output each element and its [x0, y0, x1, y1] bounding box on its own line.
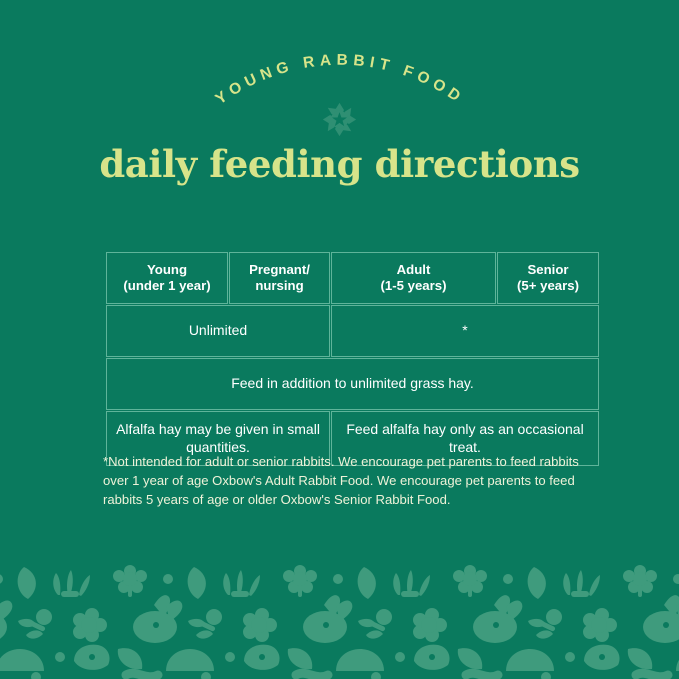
- eyebrow-text: YOUNG RABBIT FOOD: [212, 52, 467, 108]
- header-line2: (1-5 years): [381, 278, 447, 293]
- table-header-row: Young (under 1 year) Pregnant/ nursing A…: [106, 252, 599, 304]
- page-title: daily feeding directions: [0, 144, 679, 185]
- footnote-text: *Not intended for adult or senior rabbit…: [103, 452, 584, 510]
- rosette-star-icon: [321, 101, 358, 138]
- header-line1: Adult: [397, 262, 431, 277]
- header-line2: (under 1 year): [123, 278, 210, 293]
- table-header-young: Young (under 1 year): [106, 252, 228, 304]
- rabbit-leaf-flower-pattern: [0, 565, 679, 679]
- cell-unlimited: Unlimited: [106, 305, 330, 357]
- header-line1: Young: [147, 262, 187, 277]
- table-row: Unlimited *: [106, 305, 599, 357]
- header-line1: Pregnant/: [249, 262, 310, 277]
- table-header-adult: Adult (1-5 years): [331, 252, 496, 304]
- header-line2: (5+ years): [517, 278, 579, 293]
- feeding-directions-table: Young (under 1 year) Pregnant/ nursing A…: [105, 251, 600, 467]
- table-header-senior: Senior (5+ years): [497, 252, 599, 304]
- cell-grass-hay-note: Feed in addition to unlimited grass hay.: [106, 358, 599, 410]
- header-line1: Senior: [527, 262, 568, 277]
- table-header-pregnant: Pregnant/ nursing: [229, 252, 330, 304]
- table-row: Feed in addition to unlimited grass hay.: [106, 358, 599, 410]
- header-line2: nursing: [255, 278, 303, 293]
- feeding-directions-panel: YOUNG RABBIT FOOD daily: [0, 0, 679, 679]
- cell-asterisk: *: [331, 305, 599, 357]
